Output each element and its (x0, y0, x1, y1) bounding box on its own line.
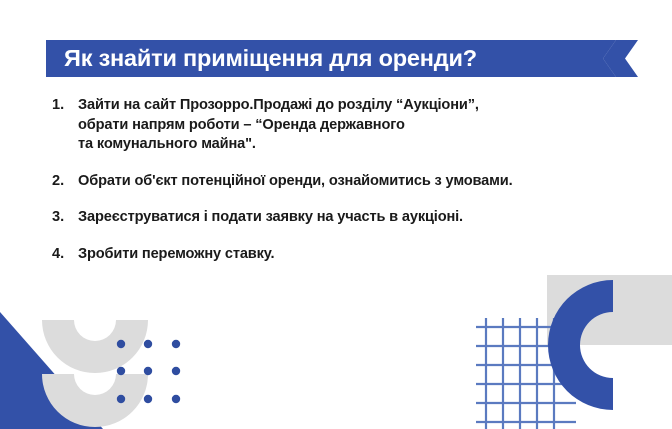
step-number: 4. (52, 245, 78, 265)
step-number: 3. (52, 208, 78, 228)
right-blue-c-shape (548, 280, 613, 410)
page-title: Як знайти приміщення для оренди? (64, 40, 477, 77)
step-text: Зайти на сайт Прозорро.Продажі до розділ… (78, 96, 648, 155)
step-text: Зареєструватися і подати заявку на участ… (78, 208, 648, 228)
step-text: Обрати об'єкт потенційної оренди, ознайо… (78, 172, 648, 192)
gray-arc-upper (42, 320, 148, 373)
steps-list: 1. Зайти на сайт Прозорро.Продажі до роз… (52, 96, 648, 264)
gray-arc-lower (42, 374, 148, 427)
step-number: 1. (52, 96, 78, 116)
right-line-grid (476, 318, 576, 429)
title-banner: Як знайти приміщення для оренди? (46, 40, 638, 77)
list-item: 3. Зареєструватися і подати заявку на уч… (52, 208, 648, 228)
bottom-left-blue-triangle (0, 312, 103, 429)
list-item: 4. Зробити переможну ставку. (52, 245, 648, 265)
right-gray-rectangle (547, 275, 672, 345)
list-item: 1. Зайти на сайт Прозорро.Продажі до роз… (52, 96, 648, 155)
slide-canvas: Як знайти приміщення для оренди? 1. Зайт… (0, 0, 672, 429)
blue-dot-grid (117, 340, 180, 403)
step-number: 2. (52, 172, 78, 192)
step-text: Зробити переможну ставку. (78, 245, 648, 265)
list-item: 2. Обрати об'єкт потенційної оренди, озн… (52, 172, 648, 192)
